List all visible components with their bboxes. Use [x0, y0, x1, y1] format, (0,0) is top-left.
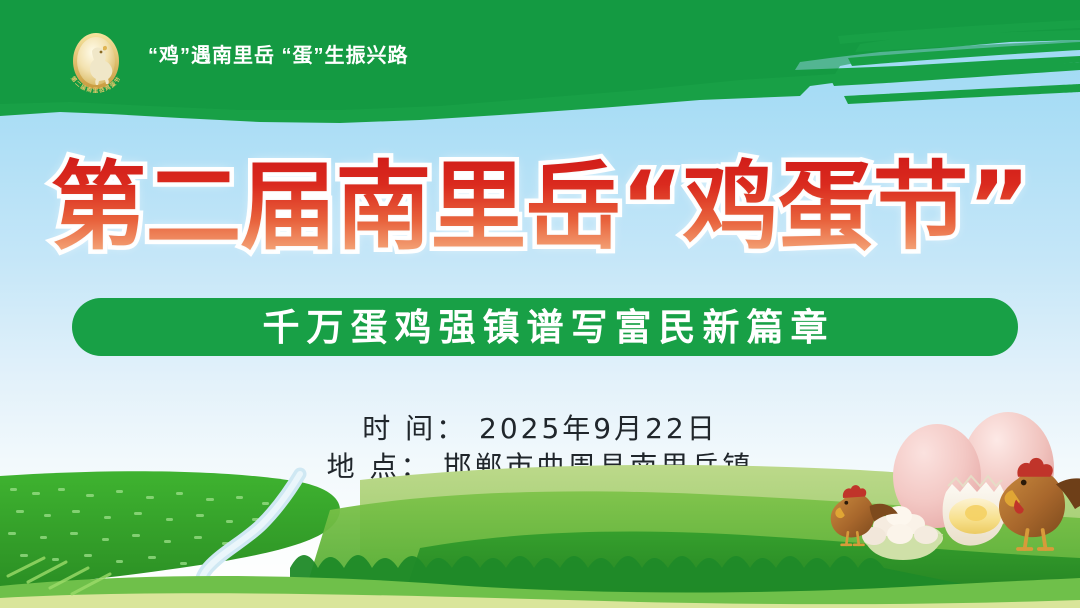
header-green-wave	[0, 0, 1080, 140]
subtitle-banner: 千万蛋鸡强镇谱写富民新篇章	[72, 298, 1018, 356]
egg-chicken-emblem-logo: 第二届南里岳鸡蛋节	[58, 27, 134, 103]
main-title: 第二届南里岳“鸡蛋节”	[0, 156, 1080, 260]
header-slogan: “鸡”遇南里岳 “蛋”生振兴路	[148, 46, 409, 66]
subtitle-banner-text: 千万蛋鸡强镇谱写富民新篇章	[256, 309, 835, 346]
poster-canvas: 第二届南里岳鸡蛋节 “鸡”遇南里岳 “蛋”生振兴路 第二届南里岳“鸡蛋节” 第二…	[0, 0, 1080, 608]
eggs-and-chickens-illustration	[800, 406, 1080, 596]
main-title-text: 第二届南里岳“鸡蛋节”	[50, 151, 1029, 263]
